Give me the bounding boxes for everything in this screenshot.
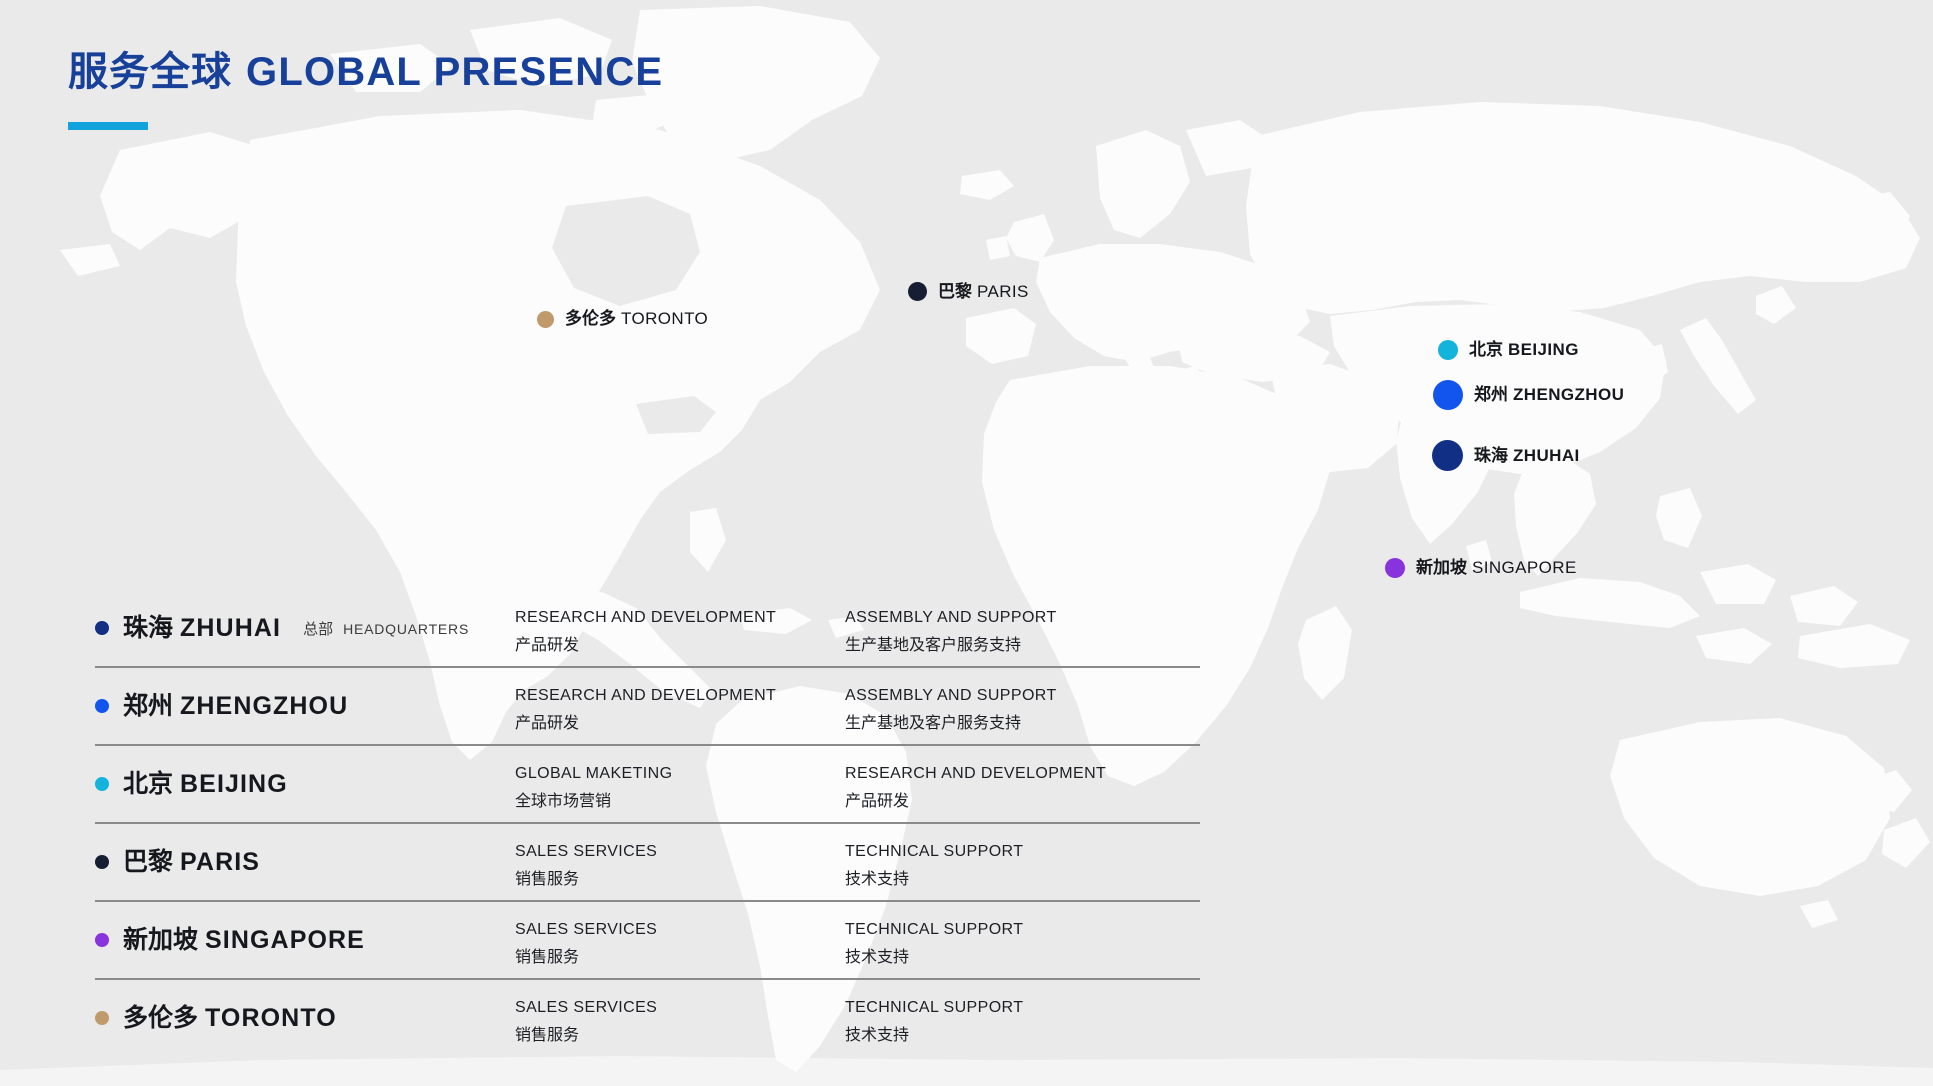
row-function-primary: SALES SERVICES 销售服务 [515, 840, 845, 890]
row-city-cn: 北京 [123, 769, 173, 798]
row-city-cell: 北京BEIJING [95, 762, 515, 806]
row-function-secondary-cn: 生产基地及客户服务支持 [845, 633, 1175, 656]
row-function-secondary: TECHNICAL SUPPORT 技术支持 [845, 840, 1175, 890]
marker-label-en: ZHUHAI [1513, 446, 1580, 465]
marker-dot-toronto [537, 311, 554, 328]
row-function-primary-cn: 销售服务 [515, 945, 845, 968]
page-title: 服务全球GLOBAL PRESENCE [68, 48, 663, 96]
table-row[interactable]: 珠海ZHUHAI 总部 HEADQUARTERS RESEARCH AND DE… [95, 590, 1200, 666]
marker-label-zhengzhou: 郑州ZHENGZHOU [1474, 386, 1624, 404]
row-function-primary-cn: 销售服务 [515, 1023, 845, 1046]
marker-label-beijing: 北京BEIJING [1469, 341, 1579, 359]
row-function-secondary-cn: 产品研发 [845, 789, 1175, 812]
row-function-primary-cn: 产品研发 [515, 711, 845, 734]
map-marker-zhuhai[interactable]: 珠海ZHUHAI [1432, 440, 1580, 471]
row-bullet-icon [95, 855, 109, 869]
page-header: 服务全球GLOBAL PRESENCE [68, 48, 663, 130]
row-function-primary-en: SALES SERVICES [515, 918, 845, 941]
row-bullet-icon [95, 933, 109, 947]
row-function-secondary-cn: 技术支持 [845, 1023, 1175, 1046]
row-bullet-icon [95, 777, 109, 791]
marker-label-en: SINGAPORE [1472, 558, 1577, 577]
row-city-en: BEIJING [180, 770, 288, 798]
row-function-secondary-cn: 技术支持 [845, 945, 1175, 968]
map-marker-singapore[interactable]: 新加坡SINGAPORE [1385, 558, 1577, 578]
marker-dot-zhengzhou [1433, 380, 1463, 410]
row-function-primary-cn: 产品研发 [515, 633, 845, 656]
row-function-secondary-en: RESEARCH AND DEVELOPMENT [845, 762, 1175, 785]
row-function-primary: RESEARCH AND DEVELOPMENT 产品研发 [515, 684, 845, 734]
row-city-en: ZHENGZHOU [180, 692, 348, 720]
row-function-secondary: RESEARCH AND DEVELOPMENT 产品研发 [845, 762, 1175, 812]
row-hq-en: HEADQUARTERS [343, 621, 469, 637]
row-function-primary: SALES SERVICES 销售服务 [515, 996, 845, 1046]
row-function-primary: RESEARCH AND DEVELOPMENT 产品研发 [515, 606, 845, 656]
map-marker-beijing[interactable]: 北京BEIJING [1438, 340, 1579, 360]
marker-label-paris: 巴黎PARIS [938, 283, 1029, 301]
marker-label-cn: 新加坡 [1416, 558, 1467, 578]
table-row[interactable]: 多伦多TORONTO SALES SERVICES 销售服务 TECHNICAL… [95, 978, 1200, 1056]
row-function-secondary-en: TECHNICAL SUPPORT [845, 840, 1175, 863]
row-function-secondary-en: ASSEMBLY AND SUPPORT [845, 684, 1175, 707]
marker-label-en: BEIJING [1508, 340, 1579, 359]
row-city-cn: 多伦多 [123, 1003, 198, 1032]
title-accent-bar [68, 122, 148, 130]
row-function-primary-cn: 销售服务 [515, 867, 845, 890]
table-row[interactable]: 北京BEIJING GLOBAL MAKETING 全球市场营销 RESEARC… [95, 744, 1200, 822]
marker-label-en: TORONTO [621, 309, 708, 328]
row-function-secondary: ASSEMBLY AND SUPPORT 生产基地及客户服务支持 [845, 606, 1175, 656]
row-bullet-icon [95, 1011, 109, 1025]
row-function-primary-cn: 全球市场营销 [515, 789, 845, 812]
row-city-name: 多伦多TORONTO [123, 1005, 337, 1031]
marker-label-cn: 北京 [1469, 340, 1503, 360]
page-title-en: GLOBAL PRESENCE [246, 50, 663, 94]
row-city-name: 郑州ZHENGZHOU [123, 693, 348, 719]
row-city-cell: 巴黎PARIS [95, 840, 515, 884]
map-marker-paris[interactable]: 巴黎PARIS [908, 282, 1029, 301]
page-title-cn: 服务全球 [68, 49, 232, 95]
table-row[interactable]: 新加坡SINGAPORE SALES SERVICES 销售服务 TECHNIC… [95, 900, 1200, 978]
row-function-primary-en: GLOBAL MAKETING [515, 762, 845, 785]
office-list: 珠海ZHUHAI 总部 HEADQUARTERS RESEARCH AND DE… [95, 590, 1200, 1056]
row-function-secondary-en: TECHNICAL SUPPORT [845, 918, 1175, 941]
row-function-secondary: TECHNICAL SUPPORT 技术支持 [845, 996, 1175, 1046]
table-row[interactable]: 郑州ZHENGZHOU RESEARCH AND DEVELOPMENT 产品研… [95, 666, 1200, 744]
marker-label-cn: 多伦多 [565, 309, 616, 329]
row-city-en: TORONTO [205, 1004, 337, 1032]
marker-label-cn: 郑州 [1474, 385, 1508, 405]
row-function-secondary-en: ASSEMBLY AND SUPPORT [845, 606, 1175, 629]
row-city-name: 巴黎PARIS [123, 849, 260, 875]
marker-dot-singapore [1385, 558, 1405, 578]
row-city-name: 北京BEIJING [123, 771, 288, 797]
map-marker-toronto[interactable]: 多伦多TORONTO [537, 310, 708, 328]
row-city-en: ZHUHAI [180, 614, 281, 642]
marker-label-toronto: 多伦多TORONTO [565, 310, 708, 328]
row-function-secondary-en: TECHNICAL SUPPORT [845, 996, 1175, 1019]
row-function-primary: SALES SERVICES 销售服务 [515, 918, 845, 968]
row-function-secondary-cn: 技术支持 [845, 867, 1175, 890]
marker-dot-zhuhai [1432, 440, 1463, 471]
row-city-cn: 新加坡 [123, 925, 198, 954]
row-function-primary-en: RESEARCH AND DEVELOPMENT [515, 684, 845, 707]
marker-dot-paris [908, 282, 927, 301]
row-function-primary-en: SALES SERVICES [515, 996, 845, 1019]
row-function-secondary: ASSEMBLY AND SUPPORT 生产基地及客户服务支持 [845, 684, 1175, 734]
marker-dot-beijing [1438, 340, 1458, 360]
global-presence-slide: 服务全球GLOBAL PRESENCE 多伦多TORONTO 巴黎PARIS 北… [0, 0, 1933, 1086]
marker-label-en: ZHENGZHOU [1513, 385, 1624, 404]
row-city-cn: 巴黎 [123, 847, 173, 876]
row-bullet-icon [95, 699, 109, 713]
row-function-primary-en: SALES SERVICES [515, 840, 845, 863]
row-headquarters-note: 总部 HEADQUARTERS [303, 618, 469, 639]
marker-label-cn: 珠海 [1474, 446, 1508, 466]
row-city-cn: 郑州 [123, 691, 173, 720]
marker-label-zhuhai: 珠海ZHUHAI [1474, 447, 1580, 465]
table-row[interactable]: 巴黎PARIS SALES SERVICES 销售服务 TECHNICAL SU… [95, 822, 1200, 900]
row-function-secondary-cn: 生产基地及客户服务支持 [845, 711, 1175, 734]
row-city-cell: 珠海ZHUHAI 总部 HEADQUARTERS [95, 606, 515, 650]
row-function-primary-en: RESEARCH AND DEVELOPMENT [515, 606, 845, 629]
row-city-cell: 新加坡SINGAPORE [95, 918, 515, 962]
row-city-cell: 郑州ZHENGZHOU [95, 684, 515, 728]
map-marker-zhengzhou[interactable]: 郑州ZHENGZHOU [1433, 380, 1624, 410]
row-city-en: PARIS [180, 848, 260, 876]
row-function-secondary: TECHNICAL SUPPORT 技术支持 [845, 918, 1175, 968]
row-city-name: 新加坡SINGAPORE [123, 927, 365, 953]
marker-label-singapore: 新加坡SINGAPORE [1416, 559, 1577, 577]
row-city-name: 珠海ZHUHAI [123, 615, 281, 641]
row-hq-cn: 总部 [303, 618, 333, 639]
marker-label-en: PARIS [977, 282, 1029, 301]
marker-label-cn: 巴黎 [938, 282, 972, 302]
row-city-cell: 多伦多TORONTO [95, 996, 515, 1040]
row-bullet-icon [95, 621, 109, 635]
row-city-en: SINGAPORE [205, 926, 365, 954]
row-function-primary: GLOBAL MAKETING 全球市场营销 [515, 762, 845, 812]
row-city-cn: 珠海 [123, 613, 173, 642]
